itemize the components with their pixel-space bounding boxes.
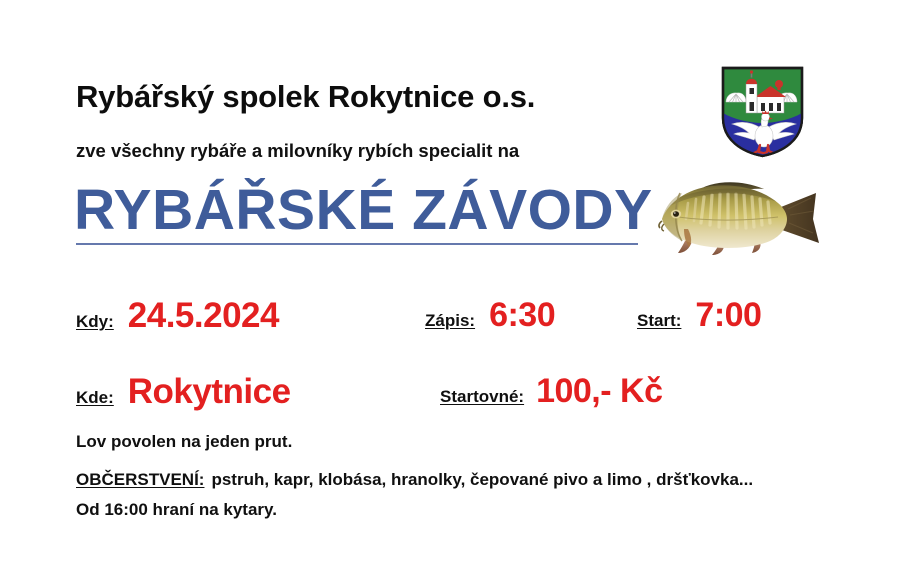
where-value: Rokytnice	[128, 372, 291, 412]
music-note: Od 16:00 hraní na kytary.	[76, 500, 277, 520]
coat-of-arms	[721, 66, 804, 158]
fee-value: 100,- Kč	[536, 372, 662, 411]
when-value: 24.5.2024	[128, 296, 279, 336]
refreshments-label: OBČERSTVENÍ:	[76, 470, 204, 489]
refreshments-note: OBČERSTVENÍ:pstruh, kapr, klobása, hrano…	[76, 470, 753, 490]
invitation-line: zve všechny rybáře a milovníky rybích sp…	[76, 140, 519, 162]
coat-of-arms-icon	[721, 66, 804, 158]
registration-label: Zápis:	[425, 311, 475, 331]
rod-rule-note: Lov povolen na jeden prut.	[76, 432, 292, 452]
start-value: 7:00	[695, 296, 761, 335]
organization-title: Rybářský spolek Rokytnice o.s.	[76, 79, 535, 115]
field-fee: Startovné: 100,- Kč	[440, 372, 662, 411]
carp-icon	[648, 167, 823, 255]
where-label: Kde:	[76, 388, 114, 408]
field-start: Start: 7:00	[637, 296, 761, 335]
field-registration: Zápis: 6:30	[425, 296, 555, 335]
poster-canvas: Rybářský spolek Rokytnice o.s. zve všech…	[0, 0, 900, 588]
refreshments-items: pstruh, kapr, klobása, hranolky, čepovan…	[211, 470, 753, 489]
when-label: Kdy:	[76, 312, 114, 332]
heading-underline-rule	[76, 243, 638, 245]
location-row: Kde: Rokytnice Startovné: 100,- Kč	[0, 372, 900, 418]
start-label: Start:	[637, 311, 681, 331]
schedule-row: Kdy: 24.5.2024 Zápis: 6:30 Start: 7:00	[0, 296, 900, 342]
carp-fish-image	[648, 167, 823, 255]
field-where: Kde: Rokytnice	[76, 372, 291, 412]
registration-value: 6:30	[489, 296, 555, 335]
event-heading: RYBÁŘSKÉ ZÁVODY	[74, 181, 653, 241]
fee-label: Startovné:	[440, 387, 524, 407]
field-when: Kdy: 24.5.2024	[76, 296, 279, 336]
